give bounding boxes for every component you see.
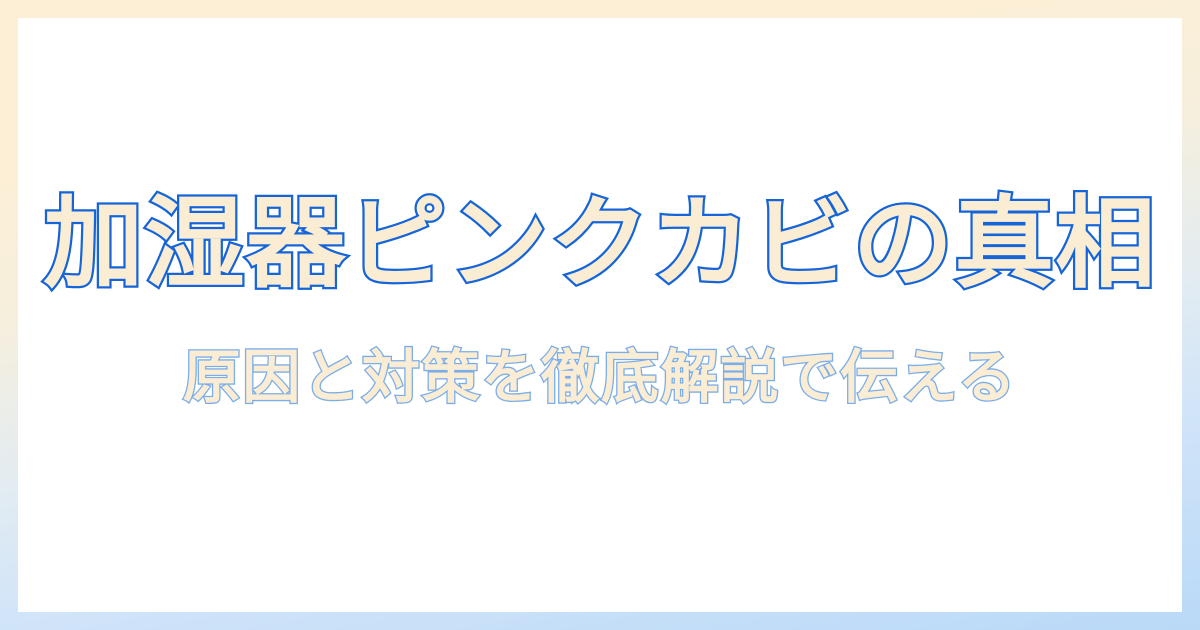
banner-subtitle: 原因と対策を徹底解説で伝える (183, 348, 1018, 406)
inner-white-card: 加湿器ピンクカビの真相 原因と対策を徹底解説で伝える (18, 18, 1182, 612)
subtitle-block: 原因と対策を徹底解説で伝える (18, 348, 1182, 406)
eyecatch-banner: 加湿器ピンクカビの真相 原因と対策を徹底解説で伝える (0, 0, 1200, 630)
banner-title: 加湿器ピンクカビの真相 (43, 194, 1156, 294)
banner-content: 加湿器ピンクカビの真相 原因と対策を徹底解説で伝える (18, 18, 1182, 612)
title-block: 加湿器ピンクカビの真相 (18, 194, 1182, 294)
